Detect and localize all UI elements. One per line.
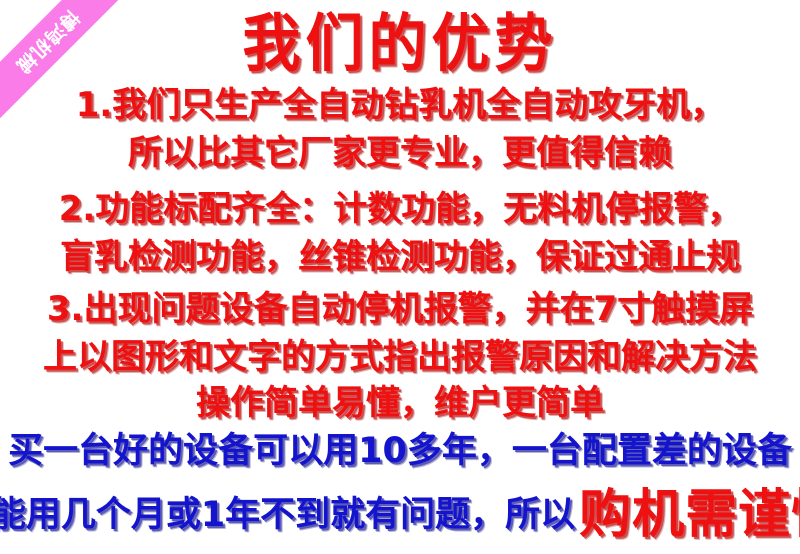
advantage-item-3-line-b: 上以图形和文字的方式指出报警原因和解决方法 (0, 340, 800, 374)
page-title: 我们的优势 (0, 12, 800, 75)
advantage-item-3-line-a: 3.出现问题设备自动停机报警，并在7寸触摸屏 (0, 292, 800, 326)
advantage-item-1-line-a: 1.我们只生产全自动钻乳机全自动攻牙机， (0, 88, 800, 122)
advantage-item-2-line-b: 盲乳检测功能，丝锥检测功能，保证过通止规 (0, 240, 800, 274)
footer-line-2: 可能用几个月或1年不到就有问题，所以 购机需谨慎 (0, 483, 800, 535)
advantage-item-3-line-c: 操作简单易懂，维户更简单 (0, 386, 800, 420)
advantage-item-1-line-b: 所以比其它厂家更专业，更值得信赖 (0, 136, 800, 170)
footer-line-1: 买一台好的设备可以用10多年，一台配置差的设备 (0, 434, 800, 469)
footer-line-2-lead: 可能用几个月或1年不到就有问题，所以 (0, 498, 575, 533)
promotional-poster: 博鸿机械 我们的优势 1.我们只生产全自动钻乳机全自动攻牙机， 所以比其它厂家更… (0, 0, 800, 554)
footer-line-2-emphasis: 购机需谨慎 (579, 489, 800, 541)
advantage-item-2-line-a: 2.功能标配齐全：计数功能，无料机停报警， (0, 192, 800, 226)
